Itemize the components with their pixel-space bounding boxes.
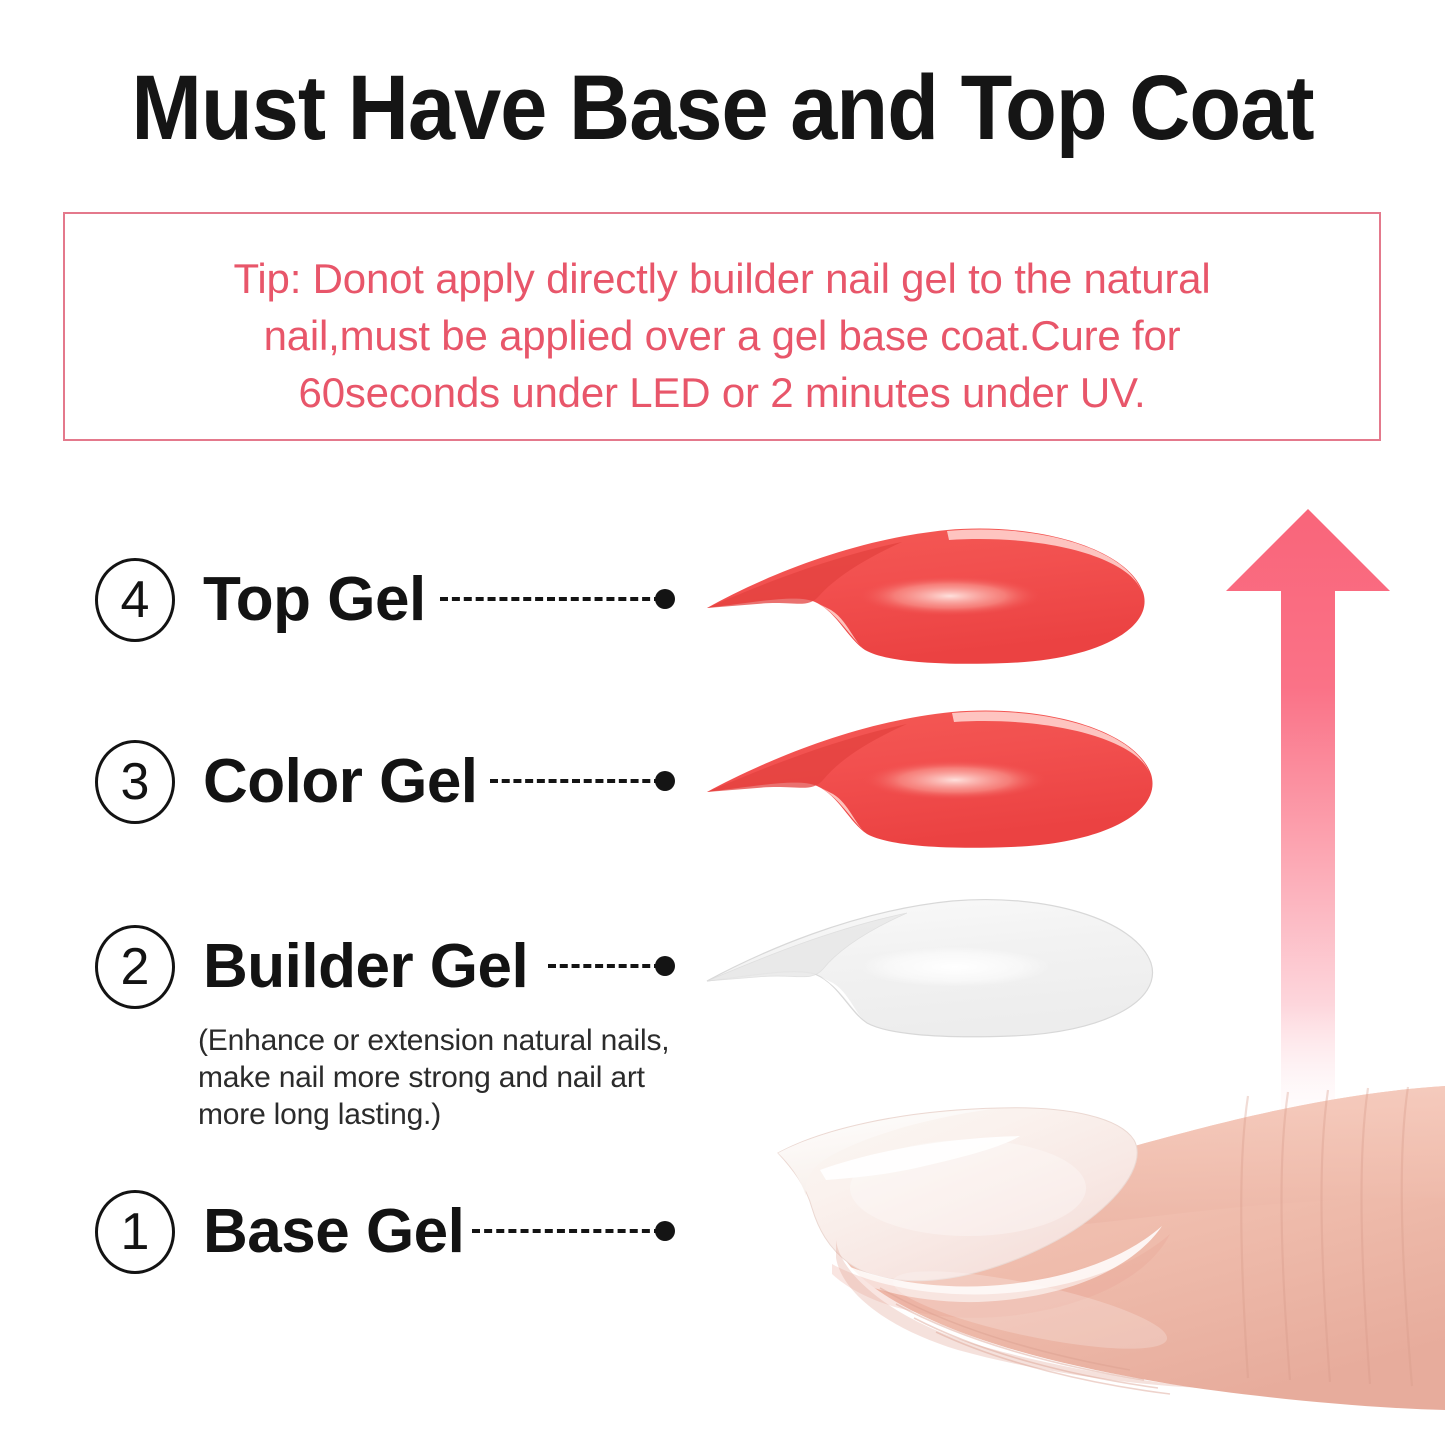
leader-line-color-gel <box>490 779 662 787</box>
step-number-badge-2: 2 <box>95 925 175 1009</box>
step-note-line-1: (Enhance or extension natural nails, <box>198 1022 758 1059</box>
step-number-badge-4: 4 <box>95 558 175 642</box>
tip-text: Tip: Donot apply directly builder nail g… <box>105 250 1339 421</box>
tip-text-line-2: nail,must be applied over a gel base coa… <box>105 307 1339 364</box>
clear-gel-nail-swatch-builder <box>697 893 1160 1056</box>
finger-with-natural-nail-photo <box>700 1078 1445 1445</box>
tip-text-line-3: 60seconds under LED or 2 minutes under U… <box>105 364 1339 421</box>
step-label-base-gel: Base Gel <box>203 1200 464 1264</box>
leader-line-base-gel <box>472 1229 662 1237</box>
step-number-badge-1: 1 <box>95 1190 175 1274</box>
step-note-line-2: make nail more strong and nail art <box>198 1059 758 1096</box>
tip-box: Tip: Donot apply directly builder nail g… <box>63 212 1381 441</box>
leader-dot-base-gel <box>655 1221 675 1241</box>
tip-text-line-1: Tip: Donot apply directly builder nail g… <box>105 250 1339 307</box>
infographic-page: Must Have Base and Top Coat Tip: Donot a… <box>0 0 1445 1445</box>
leader-line-top-gel <box>440 597 662 605</box>
step-note-builder-gel: (Enhance or extension natural nails, mak… <box>198 1022 758 1133</box>
step-note-line-3: more long lasting.) <box>198 1096 758 1133</box>
leader-dot-builder-gel <box>655 956 675 976</box>
upward-arrow-icon <box>1222 505 1394 1145</box>
leader-dot-top-gel <box>655 589 675 609</box>
leader-line-builder-gel <box>548 964 662 972</box>
red-gel-nail-swatch-top <box>697 520 1152 685</box>
leader-dot-color-gel <box>655 771 675 791</box>
red-gel-nail-swatch-color <box>697 700 1160 868</box>
step-label-top-gel: Top Gel <box>203 568 426 632</box>
step-number-badge-3: 3 <box>95 740 175 824</box>
step-label-color-gel: Color Gel <box>203 750 478 814</box>
step-label-builder-gel: Builder Gel <box>203 935 528 999</box>
page-title: Must Have Base and Top Coat <box>58 58 1387 158</box>
